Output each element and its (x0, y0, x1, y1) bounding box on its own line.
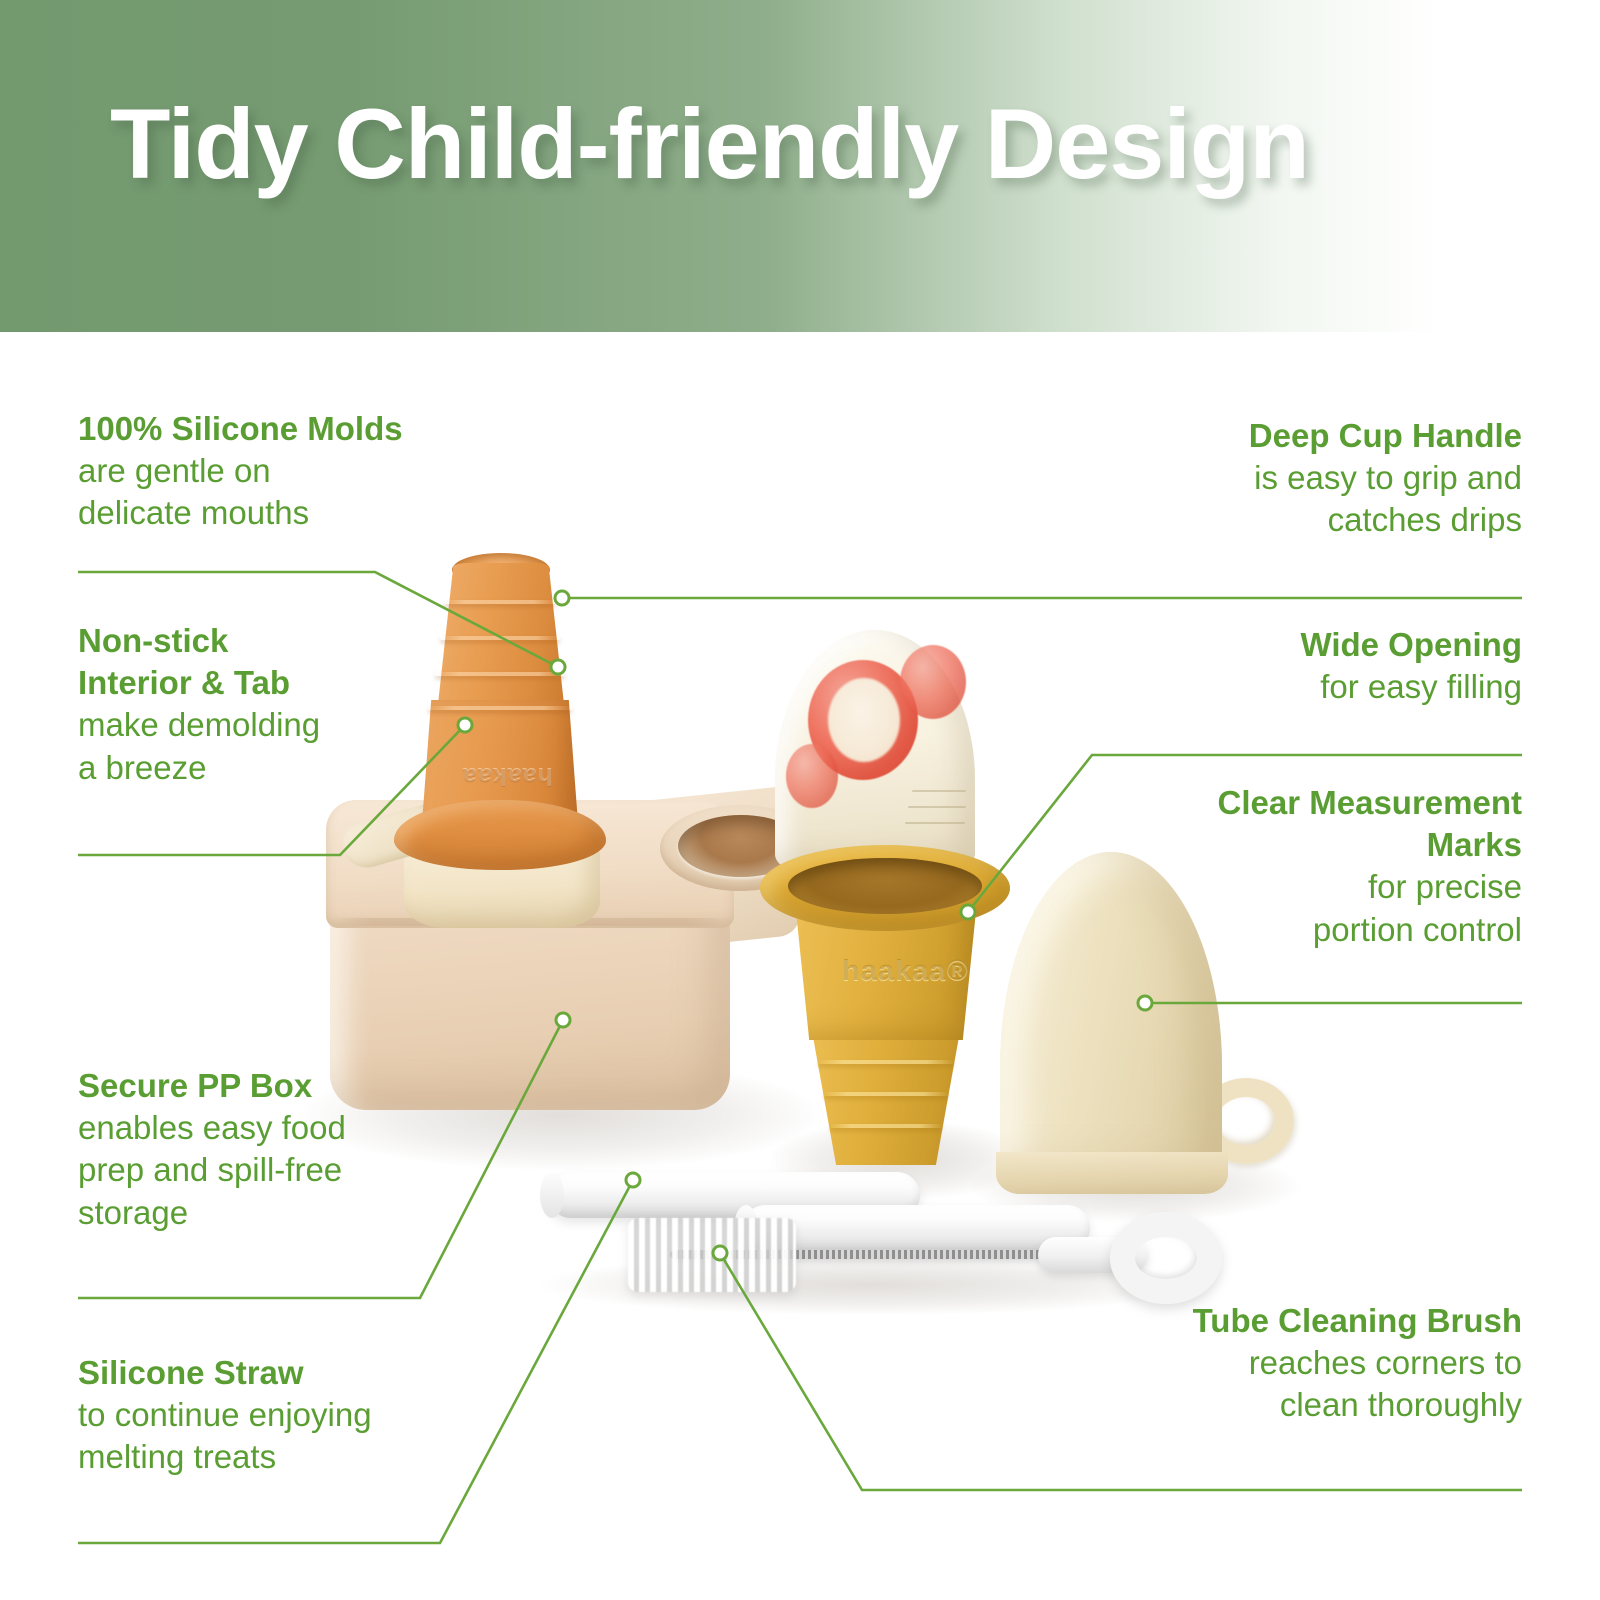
callout-non-stick: Non-stick Interior & Tab make demolding … (78, 620, 508, 789)
callout-clear-measurement: Clear Measurement Marks for precise port… (1070, 782, 1522, 951)
callout-title: 100% Silicone Molds (78, 408, 508, 450)
gold-ridge-1 (818, 1060, 954, 1064)
strawberry-piece-2 (900, 645, 966, 719)
callout-line: for easy filling (1070, 666, 1522, 708)
callout-line: enables easy food (78, 1107, 508, 1149)
callout-title: Interior & Tab (78, 662, 508, 704)
callout-deep-cup-handle: Deep Cup Handle is easy to grip and catc… (1070, 415, 1522, 542)
gold-brand-emboss: haakaa® (842, 955, 969, 988)
measurement-mark-2 (908, 806, 966, 808)
callout-tube-cleaning-brush: Tube Cleaning Brush reaches corners to c… (1070, 1300, 1522, 1427)
brush-bristle-head (628, 1218, 796, 1292)
callout-title: Clear Measurement (1070, 782, 1522, 824)
callout-title: Wide Opening (1070, 624, 1522, 666)
infographic-canvas: Tidy Child-friendly Design haakaa (0, 0, 1600, 1600)
callout-line: are gentle on (78, 450, 508, 492)
callout-line: is easy to grip and (1070, 457, 1522, 499)
strawberry-piece-3 (786, 744, 838, 808)
callout-title: Secure PP Box (78, 1065, 508, 1107)
orange-cone-flange (394, 800, 606, 870)
callout-silicone-straw: Silicone Straw to continue enjoying melt… (78, 1352, 508, 1479)
cream-dome-base (996, 1152, 1228, 1194)
callout-title: Deep Cup Handle (1070, 415, 1522, 457)
strawberry-highlight-1 (828, 678, 900, 762)
callout-line: prep and spill-free (78, 1149, 508, 1191)
brush-loop-handle (1110, 1212, 1222, 1304)
callout-line: storage (78, 1192, 508, 1234)
callout-line: make demolding (78, 704, 508, 746)
callout-line: reaches corners to (1070, 1342, 1522, 1384)
gold-ridge-2 (824, 1092, 948, 1096)
callout-line: for precise (1070, 866, 1522, 908)
mustard-cone-opening (788, 858, 982, 914)
gold-ridge-3 (830, 1124, 942, 1128)
callout-line: portion control (1070, 909, 1522, 951)
callout-line: to continue enjoying (78, 1394, 508, 1436)
callout-line: delicate mouths (78, 492, 508, 534)
callout-title: Tube Cleaning Brush (1070, 1300, 1522, 1342)
callout-line: melting treats (78, 1436, 508, 1478)
measurement-mark-1 (912, 790, 966, 792)
straw-1-end (540, 1172, 564, 1218)
callout-silicone-molds: 100% Silicone Molds are gentle on delica… (78, 408, 508, 535)
callout-line: catches drips (1070, 499, 1522, 541)
measurement-mark-3 (905, 822, 965, 824)
callout-title: Non-stick (78, 620, 508, 662)
callout-line: clean thoroughly (1070, 1384, 1522, 1426)
orange-ridge-1 (444, 600, 556, 604)
callout-line: a breeze (78, 747, 508, 789)
callout-pp-box: Secure PP Box enables easy food prep and… (78, 1065, 508, 1234)
callout-title: Silicone Straw (78, 1352, 508, 1394)
callout-title: Marks (1070, 824, 1522, 866)
callout-wide-opening: Wide Opening for easy filling (1070, 624, 1522, 708)
